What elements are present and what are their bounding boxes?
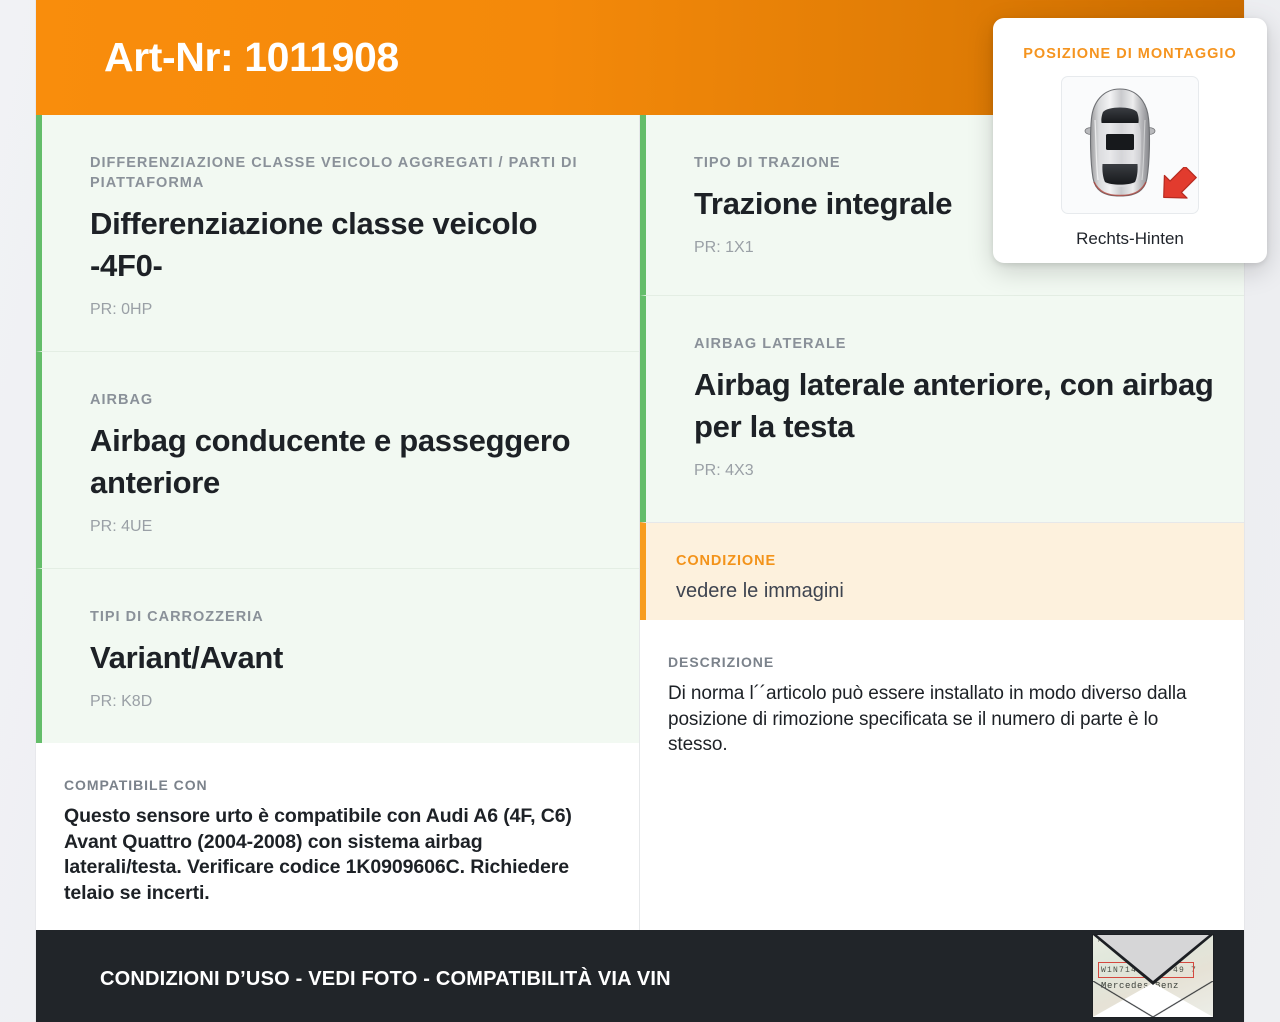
left-column: Differenziazione classe veicolo aggregat… [36, 115, 640, 930]
car-top-view-with-arrow-icon [1061, 76, 1199, 214]
spec-value: Airbag laterale anteriore, con airbag pe… [694, 364, 1218, 448]
spec-pr-code: PR: 4X3 [694, 460, 1218, 482]
spec-card-side-airbag: Airbag laterale Airbag laterale anterior… [640, 296, 1244, 522]
spec-value: Differenziazione classe veicolo -4F0- [90, 203, 613, 287]
page-footer: CONDIZIONI D’USO - VEDI FOTO - COMPATIBI… [36, 930, 1244, 1022]
popup-title: Posizione di montaggio [993, 44, 1267, 64]
spec-value: Variant/Avant [90, 637, 613, 679]
spec-pr-code: PR: 4UE [90, 516, 613, 538]
position-arrow-icon [1156, 167, 1200, 207]
mounting-position-popup[interactable]: Posizione di montaggio [993, 18, 1267, 263]
page-title: Art-Nr: 1011908 [104, 30, 399, 84]
spec-label: Differenziazione classe veicolo aggregat… [90, 153, 613, 193]
compatibility-text: Questo sensore urto è compatibile con Au… [64, 804, 605, 906]
document-page: Art-Nr: 1011908 Differenziazione classe … [36, 0, 1244, 1022]
condition-label: Condizione [676, 551, 1218, 571]
spec-card-body-type: Tipi di carrozzeria Variant/Avant PR: K8… [36, 569, 639, 743]
spec-label: Tipi di carrozzeria [90, 607, 613, 627]
envelope-icon: Fahrgestellnr. |4| A|4 W1N71463J31 49 7 … [1092, 934, 1214, 1018]
spec-value: Airbag conducente e passeggero anteriore [90, 420, 613, 504]
spec-label: Airbag laterale [694, 334, 1218, 354]
condition-value: vedere le immagini [676, 578, 1218, 605]
description-section: Descrizione Di norma l´´articolo può ess… [640, 620, 1244, 930]
envelope-flap-fill [1097, 935, 1209, 981]
condition-card: Condizione vedere le immagini [640, 522, 1244, 620]
spec-label: Airbag [90, 390, 613, 410]
compatibility-label: Compatibile con [64, 775, 605, 795]
footer-terms-text: CONDIZIONI D’USO - VEDI FOTO - COMPATIBI… [100, 966, 671, 992]
envelope-fold-lines [1093, 981, 1213, 1017]
description-text: Di norma l´´articolo può essere installa… [668, 681, 1210, 758]
description-label: Descrizione [668, 652, 1210, 672]
spec-pr-code: PR: K8D [90, 691, 613, 713]
spec-card-airbag: Airbag Airbag conducente e passeggero an… [36, 352, 639, 569]
spec-card-vehicle-class: Differenziazione classe veicolo aggregat… [36, 115, 639, 352]
compatibility-section: Compatibile con Questo sensore urto è co… [36, 743, 639, 930]
popup-position-caption: Rechts-Hinten [993, 228, 1267, 250]
spec-pr-code: PR: 0HP [90, 299, 613, 321]
